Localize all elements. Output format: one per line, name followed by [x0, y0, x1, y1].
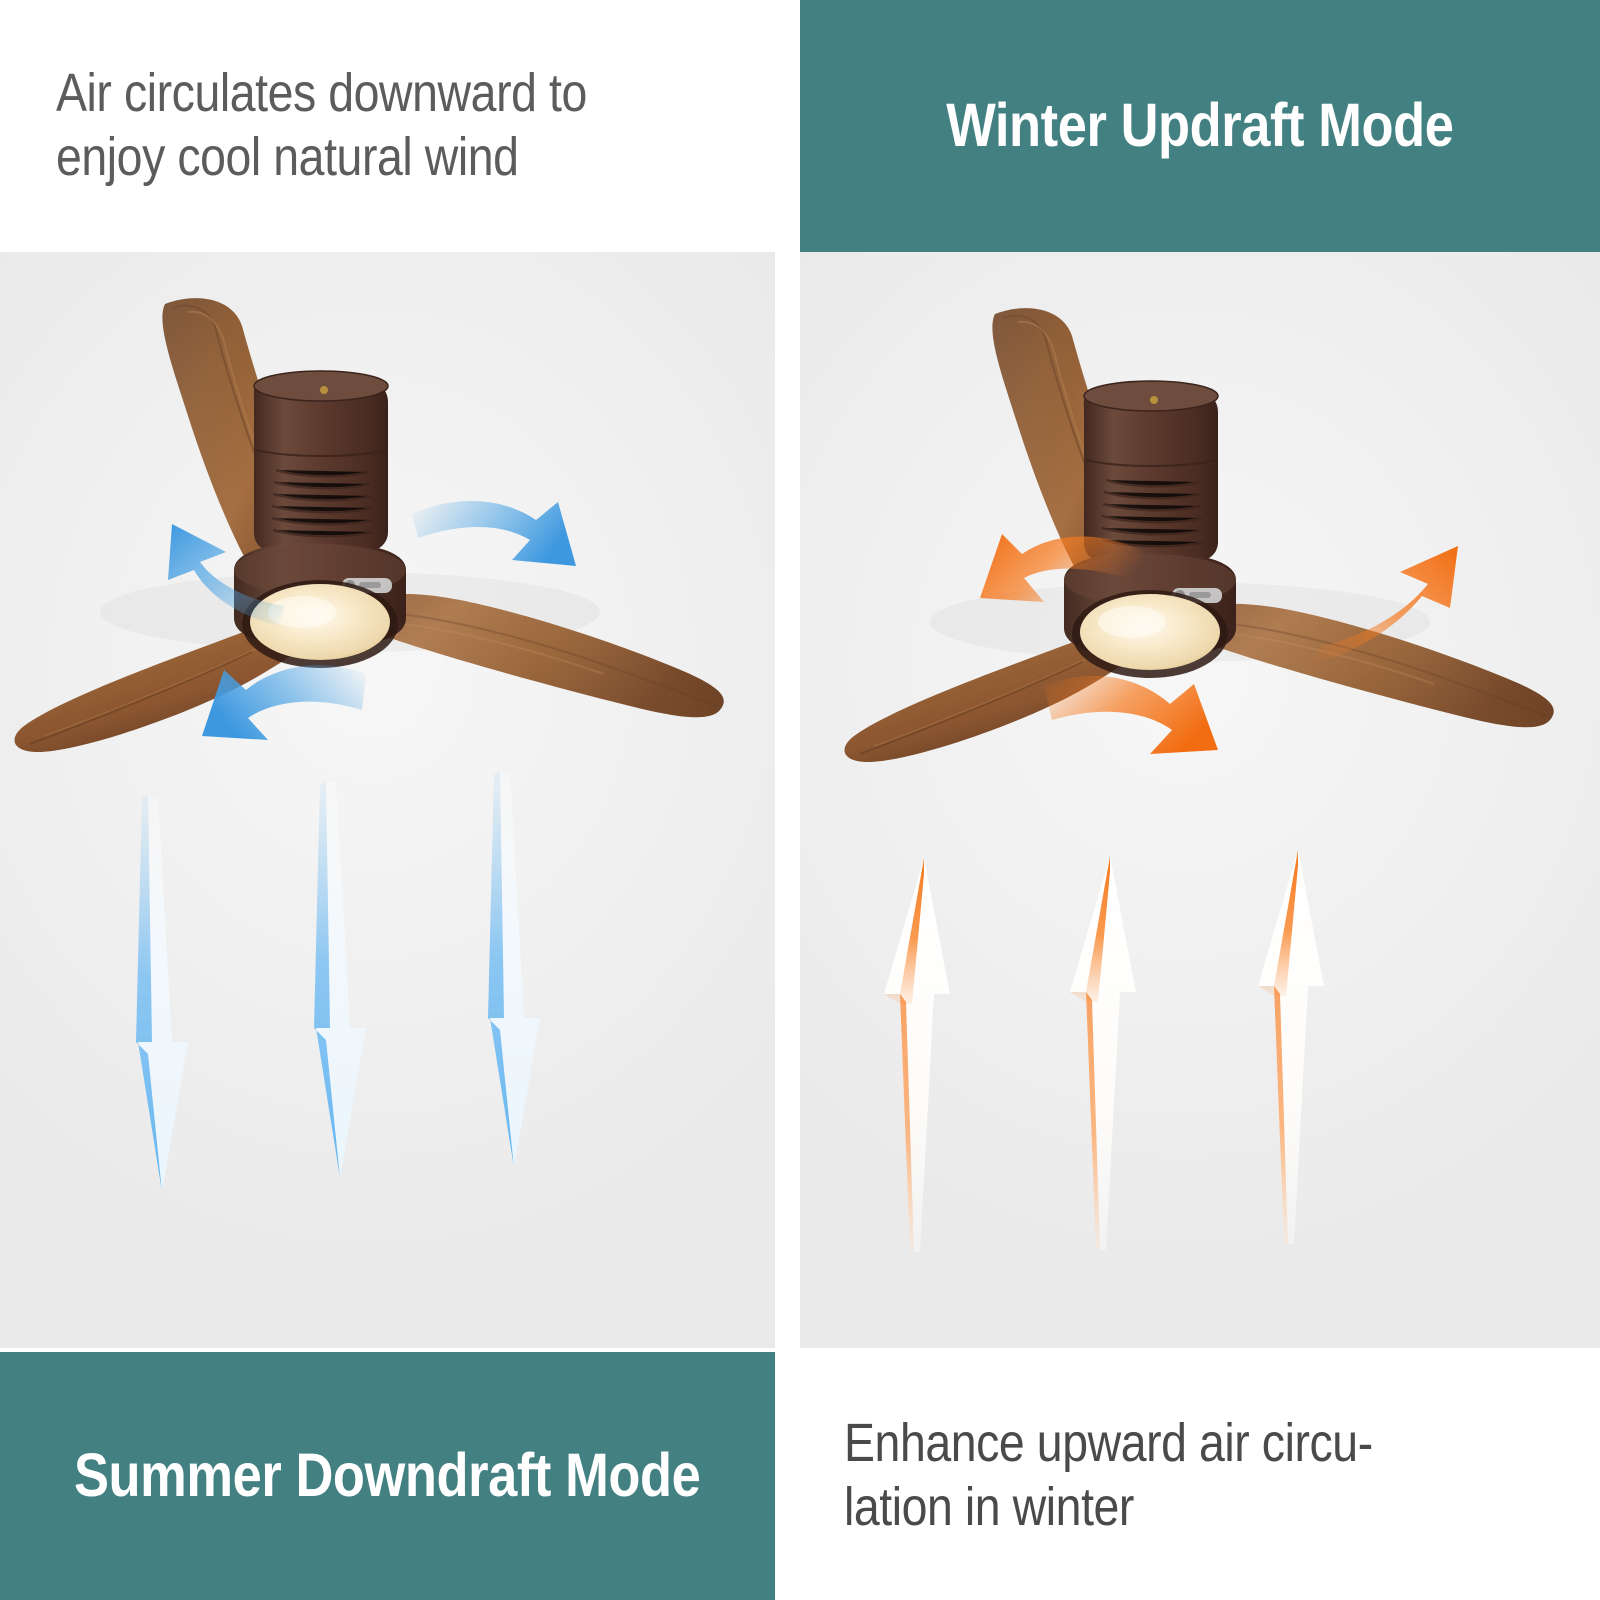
- caption-top-right: Winter Updraft Mode: [800, 0, 1600, 252]
- curved-airflow-arrow-left: [140, 522, 290, 632]
- vertical-arrow-up-3: [1258, 850, 1324, 1244]
- ceiling-fan-summer: [0, 282, 775, 742]
- vertical-arrow-up-1: [884, 858, 950, 1252]
- caption-top-left: Air circulates downward to enjoy cool na…: [0, 0, 775, 252]
- curved-airflow-arrow-bottom: [190, 652, 370, 762]
- curved-airflow-arrow-bottom: [1038, 662, 1228, 782]
- panel-summer-downdraft: [0, 252, 775, 1348]
- caption-bottom-left-text: Summer Downdraft Mode: [74, 1440, 700, 1512]
- vertical-arrow-up-2: [1070, 856, 1136, 1250]
- motor-screw-icon: [1150, 396, 1158, 404]
- caption-top-right-text: Winter Updraft Mode: [946, 90, 1453, 162]
- vertical-arrow-down-3: [488, 772, 540, 1168]
- vertical-airflow-arrows-down: [118, 792, 578, 1212]
- vertical-arrow-down-1: [136, 796, 188, 1192]
- vertical-airflow-arrows-up: [880, 852, 1380, 1272]
- caption-bottom-right: Enhance upward air circu- lation in wint…: [800, 1352, 1600, 1600]
- curved-airflow-arrow-right: [408, 474, 598, 584]
- caption-top-left-text: Air circulates downward to enjoy cool na…: [56, 62, 645, 189]
- panel-winter-updraft: [800, 252, 1600, 1348]
- curved-airflow-arrow-right: [1300, 542, 1500, 672]
- curved-airflow-arrow-left: [968, 508, 1148, 618]
- caption-bottom-left: Summer Downdraft Mode: [0, 1352, 775, 1600]
- vertical-arrow-down-2: [314, 782, 366, 1178]
- caption-bottom-right-text: Enhance upward air circu- lation in wint…: [844, 1412, 1460, 1539]
- motor-screw-icon: [320, 386, 328, 394]
- infographic-sheet: Air circulates downward to enjoy cool na…: [0, 0, 1600, 1600]
